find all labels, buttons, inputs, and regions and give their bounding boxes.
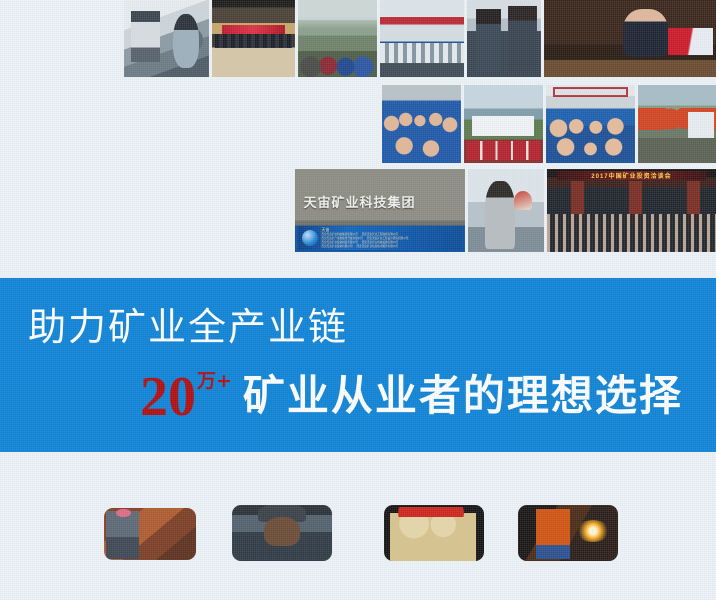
photo-surface bbox=[124, 0, 209, 77]
company-sign-subsidiary-row: 西安天宙矿业投资有限公司 西安天宙矿业信息技术服务有限公司 bbox=[321, 245, 458, 248]
company-sign-subsidiary-row: 西安天宙矿业科技集团有限公司 西安天宙矿业工程勘察有限公司 bbox=[321, 233, 458, 236]
photo-collage: 天宙矿业科技集团 天宙 西安天宙矿业科技集团有限公司 西安天宙矿业工程勘察有限公… bbox=[0, 0, 716, 262]
bottom-photo-strip bbox=[0, 452, 716, 600]
collage-photo-blue-uniform-worker-group bbox=[382, 85, 461, 163]
collage-photo-mountain-field-team bbox=[298, 0, 377, 77]
collage-photo-company-sign-board: 天宙矿业科技集团 天宙 西安天宙矿业科技集团有限公司 西安天宙矿业工程勘察有限公… bbox=[295, 169, 465, 252]
company-sign-subsidiary: 西安天宙矿业投资有限公司 bbox=[321, 245, 352, 248]
collage-photo-lab-instrument-operator bbox=[124, 0, 209, 77]
company-sign-subsidiary: 西安天宙矿业工程勘察有限公司 bbox=[362, 233, 398, 236]
company-sign-title: 天宙矿业科技集团 bbox=[304, 187, 457, 215]
banner-stat-number: 20 bbox=[140, 375, 196, 419]
conference-banner-title: 2017中国矿业投资洽谈会 bbox=[557, 171, 706, 180]
promo-banner: 助力矿业全产业链 20 万+ 矿业从业者的理想选择 bbox=[0, 278, 716, 452]
company-sign-band-text: 天宙 西安天宙矿业科技集团有限公司 西安天宙矿业工程勘察有限公司 西安天宙矿产资… bbox=[321, 227, 461, 248]
collage-photo-award-ceremony-stage bbox=[212, 0, 295, 77]
company-sign-brand: 天宙 bbox=[321, 227, 458, 232]
banner-stat-unit: 万+ bbox=[197, 366, 232, 393]
collage-photo-chairman-office-portrait bbox=[544, 0, 716, 77]
company-sign-subsidiary: 西安天宙矿山机械设备有限公司 bbox=[362, 241, 398, 244]
collage-photo-flotation-machine-line bbox=[380, 0, 464, 77]
banner-subheadline-text: 矿业从业者的理想选择 bbox=[243, 362, 683, 423]
collage-photo-two-technicians-sample-bowl bbox=[467, 0, 541, 77]
company-sign-subsidiary-row: 西安天宙矿产资源勘查开发有限公司 西安天宙矿业工程设计研究有限公司 bbox=[321, 237, 458, 240]
bottom-photo-furnace-worker bbox=[518, 505, 618, 561]
collage-photo-mine-site-team-blue-building bbox=[546, 85, 635, 163]
collage-photo-helmet-workers-van bbox=[638, 85, 716, 163]
collage-photo-woman-rock-sample bbox=[468, 169, 544, 252]
banner-headline: 助力矿业全产业链 bbox=[28, 296, 348, 351]
company-sign-subsidiary: 西安天宙矿业信息技术服务有限公司 bbox=[357, 245, 399, 248]
collage-photo-outdoor-banner-group bbox=[464, 85, 543, 163]
bottom-photo-two-female-miners bbox=[384, 505, 484, 561]
bottom-photo-geologist-outcrop bbox=[104, 508, 196, 560]
banner-subheadline: 20 万+ 矿业从业者的理想选择 bbox=[140, 358, 683, 419]
company-sign-band: 天宙 西安天宙矿业科技集团有限公司 西安天宙矿业工程勘察有限公司 西安天宙矿产资… bbox=[298, 226, 461, 249]
company-sign-subsidiary: 西安天宙矿业科技集团有限公司 bbox=[321, 233, 357, 236]
globe-icon bbox=[302, 230, 318, 246]
company-sign-subsidiary: 西安天宙矿业装备制造有限公司 bbox=[321, 241, 357, 244]
company-sign-subsidiary: 西安天宙矿产资源勘查开发有限公司 bbox=[321, 237, 363, 240]
company-sign-subsidiary-row: 西安天宙矿业装备制造有限公司 西安天宙矿山机械设备有限公司 bbox=[321, 241, 458, 244]
bottom-photo-smiling-miner-portrait bbox=[232, 505, 332, 561]
company-sign-subsidiary: 西安天宙矿业工程设计研究有限公司 bbox=[367, 237, 409, 240]
collage-photo-mining-conference-group-photo: 2017中国矿业投资洽谈会 bbox=[547, 169, 716, 252]
